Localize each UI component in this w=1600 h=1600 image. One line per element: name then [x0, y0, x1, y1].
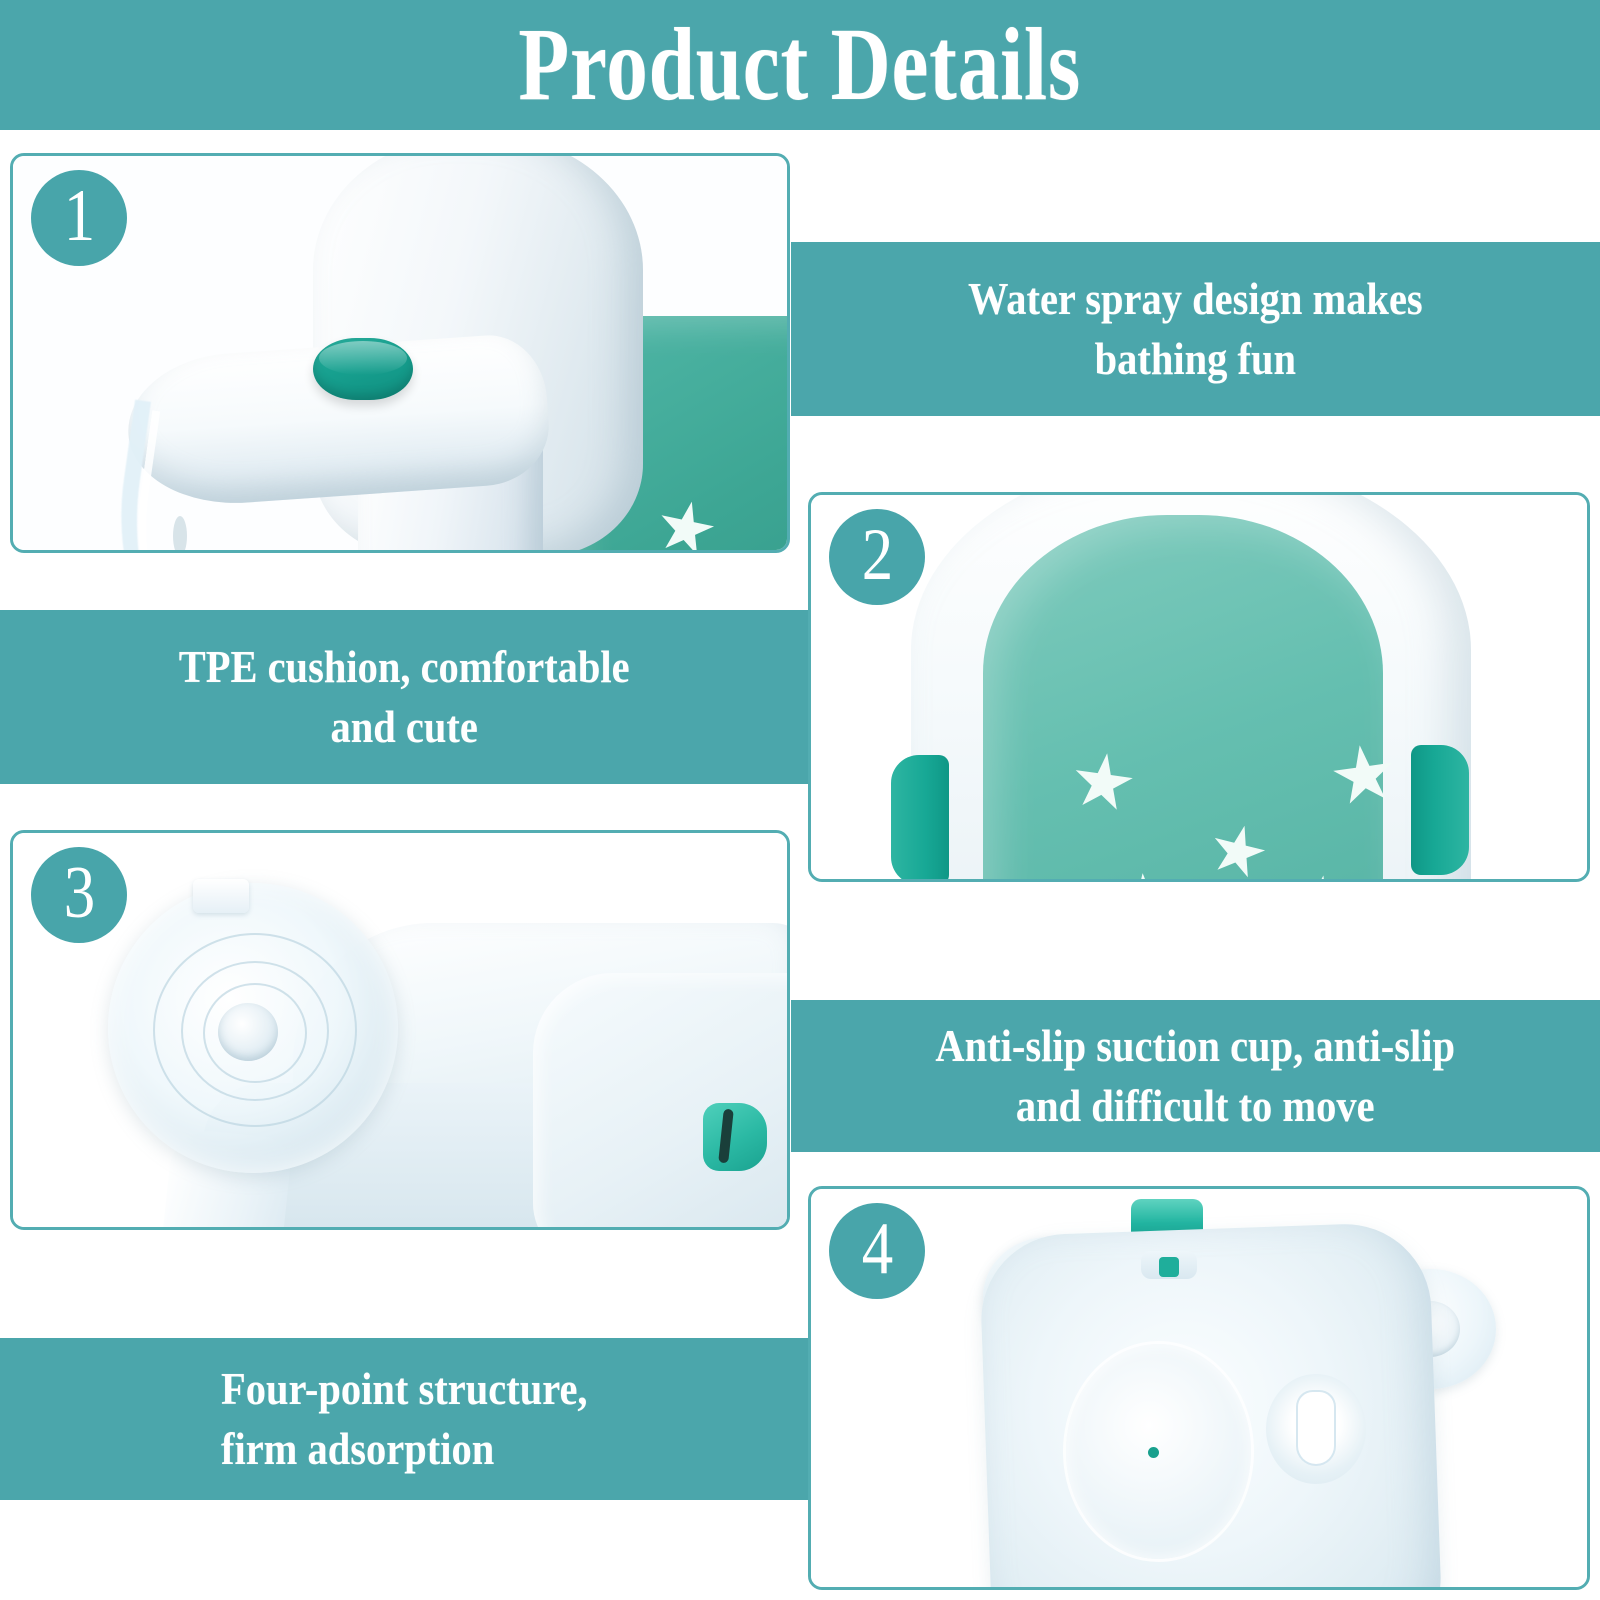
water-droplet [173, 516, 187, 550]
spray-knob [313, 338, 413, 400]
product-details-infographic: Product Details 1 Water spray design m [0, 0, 1600, 1600]
green-clip [703, 1103, 767, 1171]
photo-tpe-cushion [811, 495, 1587, 879]
feature-caption-2: TPE cushion, comfortable and cute [0, 610, 808, 784]
photo-suction-cup [13, 833, 787, 1227]
step-badge-4-label: 4 [861, 1212, 892, 1290]
feature-caption-1: Water spray design makes bathing fun [791, 242, 1600, 416]
feature-photo-1: 1 [10, 153, 790, 553]
feature-photo-2: 2 [808, 492, 1590, 882]
cup-center-nub [218, 1003, 278, 1061]
page-header: Product Details [0, 0, 1600, 130]
page-title: Product Details [519, 13, 1082, 117]
feature-caption-4-text: Four-point structure, firm adsorption [221, 1359, 588, 1479]
photo-four-point-suction [811, 1189, 1587, 1587]
feature-caption-3: Anti-slip suction cup, anti-slip and dif… [791, 1000, 1600, 1152]
side-knob-right [1411, 745, 1469, 875]
step-badge-1: 1 [31, 170, 127, 266]
step-badge-3-label: 3 [63, 856, 94, 934]
feature-photo-3: 3 [10, 830, 790, 1230]
feature-caption-4: Four-point structure, firm adsorption [0, 1338, 808, 1500]
photo-water-spray [13, 156, 787, 550]
drain-slot [1266, 1374, 1366, 1484]
step-badge-1-label: 1 [63, 179, 94, 257]
seat-wall [533, 973, 787, 1227]
center-dot [1148, 1447, 1159, 1458]
step-badge-2-label: 2 [861, 518, 892, 596]
tpe-cushion [983, 515, 1383, 879]
feature-photo-4: 4 [808, 1186, 1590, 1590]
step-badge-3: 3 [31, 847, 127, 943]
step-badge-4: 4 [829, 1203, 925, 1299]
feature-caption-1-text: Water spray design makes bathing fun [968, 269, 1423, 389]
step-badge-2: 2 [829, 509, 925, 605]
feature-caption-2-text: TPE cushion, comfortable and cute [179, 637, 630, 757]
lock-tab-top [1141, 1251, 1197, 1279]
side-knob-left [891, 755, 949, 879]
cup-pull-tab [193, 879, 249, 913]
feature-caption-3-text: Anti-slip suction cup, anti-slip and dif… [936, 1016, 1456, 1136]
